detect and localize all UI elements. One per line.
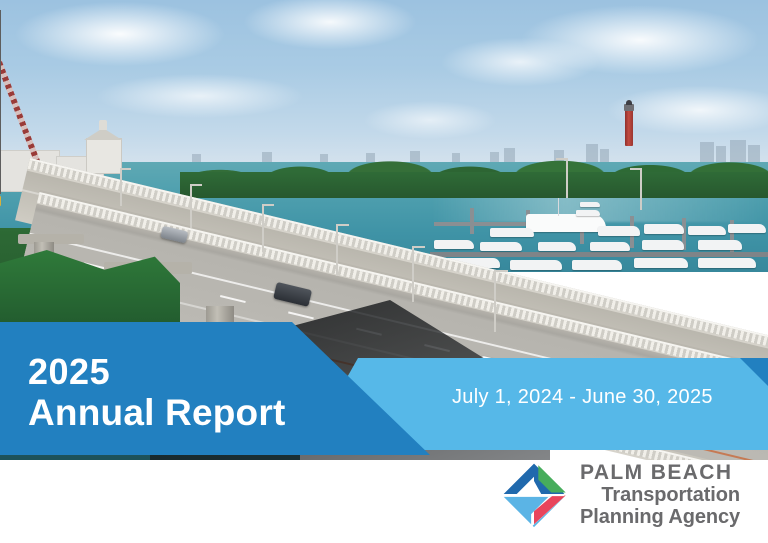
light-pole bbox=[412, 246, 414, 302]
light-pole bbox=[566, 158, 568, 198]
annual-report-cover: 2025 Annual Report July 1, 2024 - June 3… bbox=[0, 0, 768, 543]
light-pole bbox=[494, 270, 496, 332]
lighthouse-cap bbox=[626, 100, 632, 105]
report-year: 2025 bbox=[28, 352, 285, 392]
tpa-diamond-logo-icon bbox=[498, 458, 570, 530]
logo-wordmark: PALM BEACH Transportation Planning Agenc… bbox=[580, 461, 740, 528]
lighthouse-tower bbox=[625, 110, 633, 146]
logo-line-3: Planning Agency bbox=[580, 506, 740, 528]
page-title: Annual Report bbox=[28, 392, 285, 434]
palm-beach-tpa-logo[interactable]: PALM BEACH Transportation Planning Agenc… bbox=[498, 456, 760, 532]
lighthouse-lantern bbox=[624, 104, 634, 111]
light-pole bbox=[262, 204, 264, 252]
logo-line-1: PALM BEACH bbox=[580, 461, 740, 484]
light-pole bbox=[120, 168, 122, 206]
report-date-range: July 1, 2024 - June 30, 2025 bbox=[452, 385, 713, 409]
lighthouse bbox=[624, 100, 634, 146]
title-block: 2025 Annual Report bbox=[28, 352, 285, 434]
light-pole bbox=[640, 168, 642, 210]
light-pole bbox=[190, 184, 192, 228]
logo-line-2: Transportation bbox=[580, 484, 740, 506]
light-pole bbox=[336, 224, 338, 276]
